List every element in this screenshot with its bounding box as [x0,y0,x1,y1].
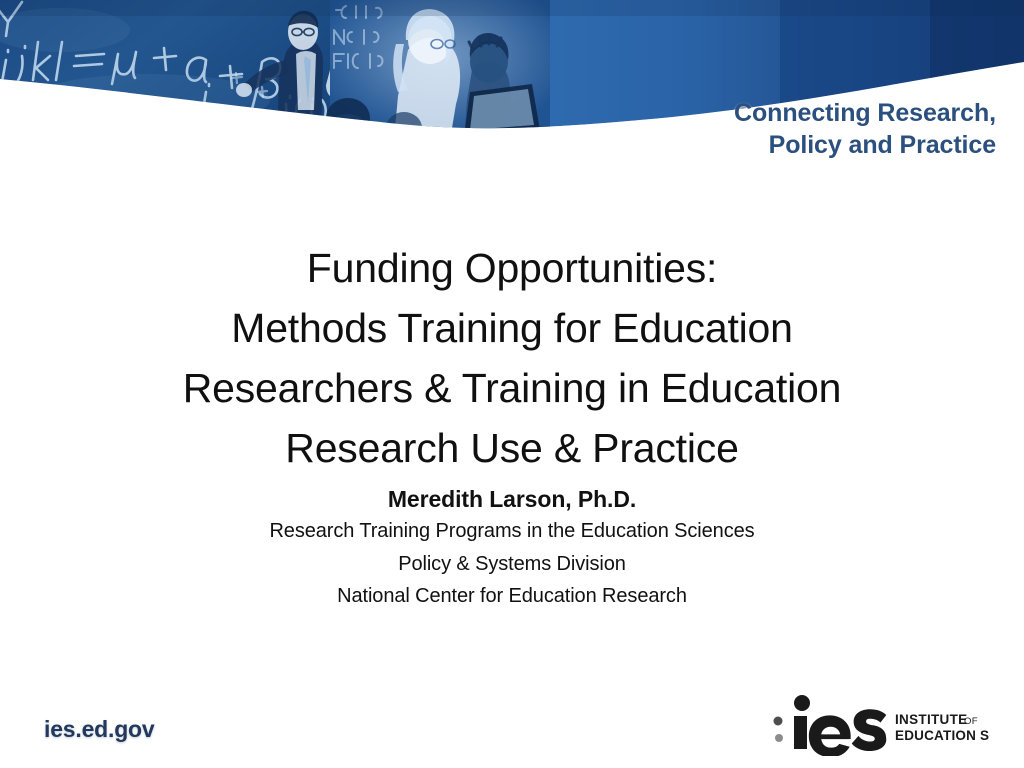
logo-wordmark [794,709,886,756]
footer-website-url[interactable]: ies.ed.gov [44,716,155,743]
presenter-affiliation-3: National Center for Education Research [0,580,1024,612]
logo-lockup-text: INSTITUTE OF EDUCATION SCIENCES [895,712,990,743]
logo-of-text: OF [964,716,978,727]
presentation-slide: Connecting Research, Policy and Practice… [0,0,1024,768]
presenter-affiliation-2: Policy & Systems Division [0,548,1024,580]
title-line-3: Researchers & Training in Education [0,359,1024,419]
title-line-1: Funding Opportunities: [0,239,1024,299]
slide-tagline: Connecting Research, Policy and Practice [476,97,996,161]
page-title: Funding Opportunities: Methods Training … [0,239,1024,478]
logo-dot-small [775,734,783,742]
presenter-affiliation-1: Research Training Programs in the Educat… [0,515,1024,547]
title-line-2: Methods Training for Education [0,299,1024,359]
presenter-block: Meredith Larson, Ph.D. Research Training… [0,484,1024,612]
logo-dot-large [794,695,810,711]
ies-logo-graphic: INSTITUTE OF EDUCATION SCIENCES [768,694,990,756]
tagline-line-2: Policy and Practice [476,129,996,161]
presenter-name: Meredith Larson, Ph.D. [0,484,1024,515]
logo-dot-medium [774,717,783,726]
ies-logo: INSTITUTE OF EDUCATION SCIENCES [768,694,990,756]
tagline-line-1: Connecting Research, [476,97,996,129]
logo-institute-text: INSTITUTE [895,712,967,727]
title-line-4: Research Use & Practice [0,419,1024,479]
logo-education-sciences-text: EDUCATION SCIENCES [895,728,990,743]
